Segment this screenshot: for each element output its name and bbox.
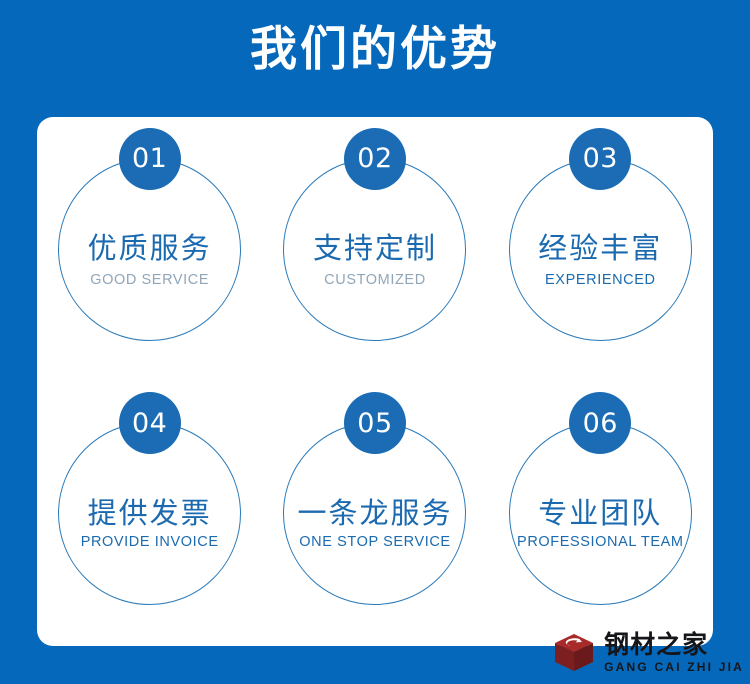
advantage-title-cn: 提供发票 xyxy=(88,497,212,530)
advantage-cell-04[interactable]: 04 提供发票 PROVIDE INVOICE xyxy=(37,382,262,647)
advantage-circle[interactable]: 04 提供发票 PROVIDE INVOICE xyxy=(58,422,241,605)
brand-logo: 钢材之家 GANG CAI ZHI JIA xyxy=(552,628,744,676)
cube-logo-icon xyxy=(552,630,596,674)
advantage-title-en: PROFESSIONAL TEAM xyxy=(517,534,684,550)
advantage-circle[interactable]: 05 一条龙服务 ONE STOP SERVICE xyxy=(283,422,466,605)
advantage-number-badge: 02 xyxy=(344,128,406,190)
advantage-cell-06[interactable]: 06 专业团队 PROFESSIONAL TEAM xyxy=(488,382,713,647)
advantage-title-en: GOOD SERVICE xyxy=(90,272,209,288)
advantage-title-en: EXPERIENCED xyxy=(545,272,656,288)
advantage-circle[interactable]: 01 优质服务 GOOD SERVICE xyxy=(58,158,241,341)
brand-name-en: GANG CAI ZHI JIA xyxy=(604,661,744,673)
advantage-number-badge: 06 xyxy=(569,392,631,454)
advantage-title-cn: 经验丰富 xyxy=(538,232,662,265)
advantage-title-cn: 支持定制 xyxy=(313,232,437,265)
advantage-circle[interactable]: 06 专业团队 PROFESSIONAL TEAM xyxy=(509,422,692,605)
advantages-grid: 01 优质服务 GOOD SERVICE 02 支持定制 CUSTOMIZED … xyxy=(37,117,713,646)
advantage-number-badge: 01 xyxy=(119,128,181,190)
advantage-title-en: CUSTOMIZED xyxy=(324,272,426,288)
advantage-number-badge: 05 xyxy=(344,392,406,454)
advantage-circle[interactable]: 03 经验丰富 EXPERIENCED xyxy=(509,158,692,341)
advantages-card: 01 优质服务 GOOD SERVICE 02 支持定制 CUSTOMIZED … xyxy=(37,117,713,646)
page-title: 我们的优势 xyxy=(0,16,750,84)
advantage-circle[interactable]: 02 支持定制 CUSTOMIZED xyxy=(283,158,466,341)
advantage-cell-02[interactable]: 02 支持定制 CUSTOMIZED xyxy=(262,117,487,382)
advantage-title-en: ONE STOP SERVICE xyxy=(299,534,450,550)
advantage-cell-01[interactable]: 01 优质服务 GOOD SERVICE xyxy=(37,117,262,382)
advantage-title-en: PROVIDE INVOICE xyxy=(81,534,219,550)
advantage-title-cn: 专业团队 xyxy=(538,497,662,530)
advantage-number-badge: 03 xyxy=(569,128,631,190)
advantage-number-badge: 04 xyxy=(119,392,181,454)
advantage-title-cn: 一条龙服务 xyxy=(297,497,452,530)
brand-text: 钢材之家 GANG CAI ZHI JIA xyxy=(604,632,744,673)
brand-name-cn: 钢材之家 xyxy=(604,632,744,657)
advantage-cell-03[interactable]: 03 经验丰富 EXPERIENCED xyxy=(488,117,713,382)
advantage-title-cn: 优质服务 xyxy=(88,232,212,265)
advantage-cell-05[interactable]: 05 一条龙服务 ONE STOP SERVICE xyxy=(262,382,487,647)
